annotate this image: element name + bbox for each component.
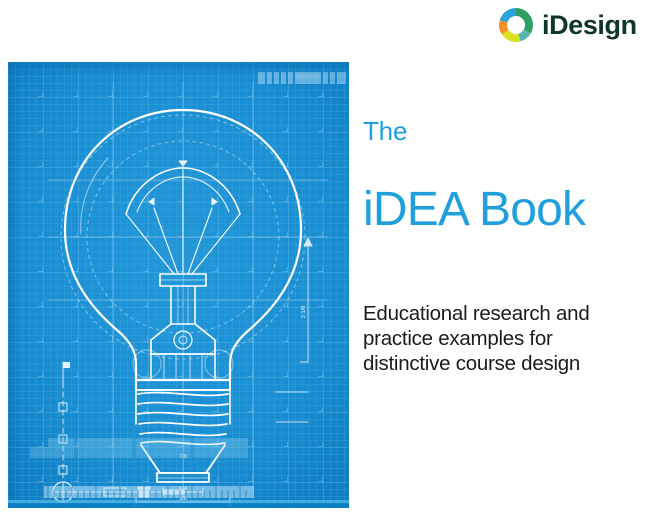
- brand-logo[interactable]: iDesign: [497, 4, 647, 46]
- cover-subtitle: Educational research and practice exampl…: [363, 301, 613, 376]
- cover-eyebrow: The: [363, 118, 643, 144]
- cover-text-block: The iDEA Book: [363, 118, 643, 234]
- page-title: iDEA Book: [363, 186, 643, 234]
- lightbulb-blueprint-image: 1/4 5/8 7/8 2 1/8: [8, 62, 349, 508]
- svg-text:2 1/8: 2 1/8: [301, 306, 307, 318]
- ring-donut-icon: [497, 6, 535, 44]
- brand-wordmark: iDesign: [542, 12, 637, 39]
